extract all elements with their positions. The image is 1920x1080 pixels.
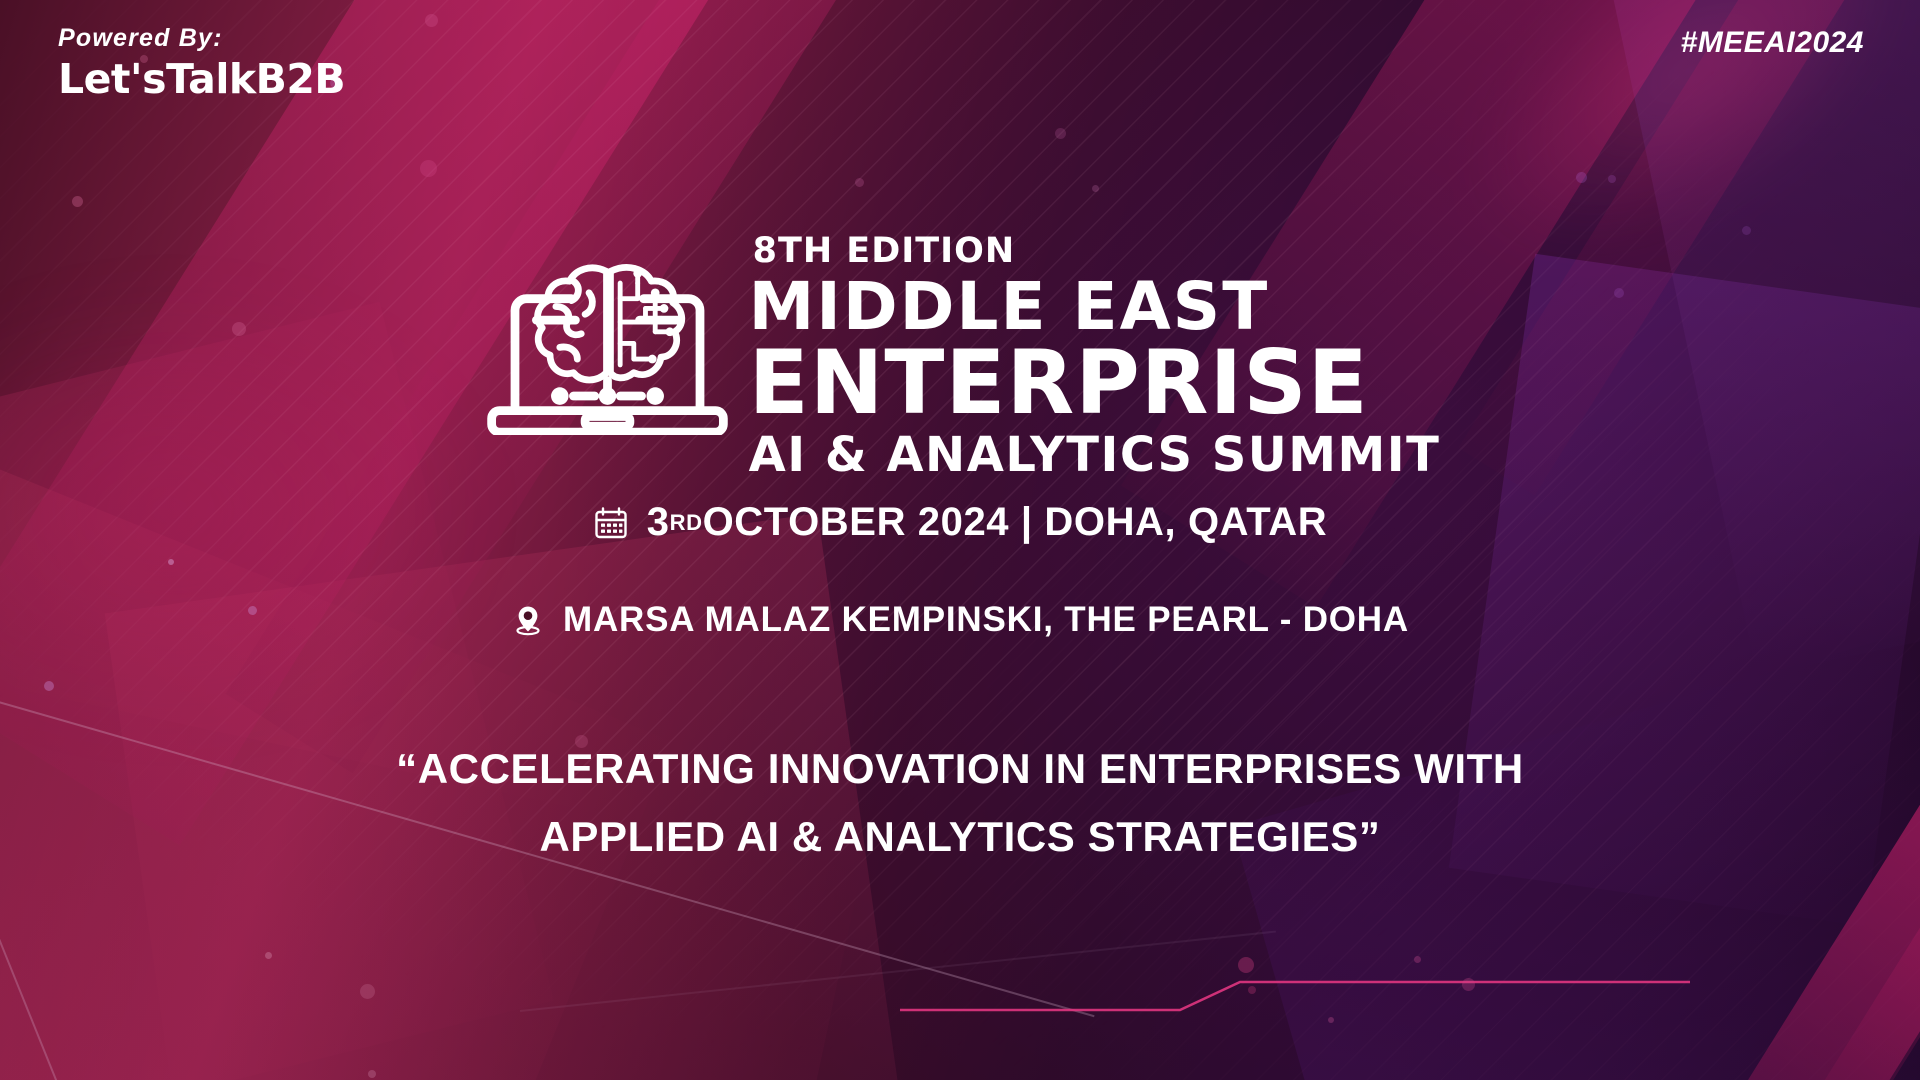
event-tagline: “ACCELERATING INNOVATION IN ENTERPRISES … — [0, 735, 1920, 871]
polygon-facet-left-4 — [0, 665, 862, 1080]
venue-row: MARSA MALAZ KEMPINSKI, THE PEARL - DOHA — [0, 600, 1920, 640]
date-ordinal: RD — [670, 510, 703, 536]
bokeh-dot — [1055, 128, 1066, 139]
bokeh-dot — [420, 160, 437, 177]
bokeh-dot — [1248, 986, 1256, 994]
bokeh-dot — [1238, 957, 1254, 973]
title-text-group: 8TH EDITION MIDDLE EAST ENTERPRISE AI & … — [749, 234, 1441, 480]
tagline-line-2: APPLIED AI & ANALYTICS STRATEGIES” — [0, 803, 1920, 871]
calendar-icon — [593, 505, 629, 541]
bokeh-dot — [265, 952, 272, 959]
venue-text: MARSA MALAZ KEMPINSKI, THE PEARL - DOHA — [563, 600, 1409, 640]
edition-label: 8TH EDITION — [753, 234, 1016, 269]
date-row: 3RD OCTOBER 2024 | DOHA, QATAR — [0, 500, 1920, 545]
bokeh-dot — [425, 14, 438, 27]
bokeh-dot — [1608, 175, 1616, 183]
date-day: 3 — [647, 500, 670, 545]
ai-brain-laptop-icon — [480, 250, 735, 435]
tagline-line-1: “ACCELERATING INNOVATION IN ENTERPRISES … — [0, 735, 1920, 803]
title-block: 8TH EDITION MIDDLE EAST ENTERPRISE AI & … — [0, 234, 1920, 480]
date-rest: OCTOBER 2024 | DOHA, QATAR — [703, 500, 1328, 545]
bokeh-dot — [368, 1070, 376, 1078]
bokeh-dot — [1576, 172, 1587, 183]
bokeh-dot — [44, 681, 54, 691]
title-line-2: ENTERPRISE — [749, 338, 1369, 428]
title-line-1: MIDDLE EAST — [749, 273, 1270, 340]
bokeh-dot — [1462, 978, 1475, 991]
event-banner: Powered By: Let'sTalkB2B #MEEAI2024 — [0, 0, 1920, 1080]
bokeh-dot — [360, 984, 375, 999]
powered-by-label: Powered By: — [58, 24, 345, 53]
hairline-2 — [0, 867, 147, 1080]
bokeh-dot — [72, 196, 83, 207]
powered-by-block: Powered By: Let'sTalkB2B — [58, 24, 345, 103]
lets-talk-b2b-logo: Let'sTalkB2B — [58, 55, 345, 103]
event-hashtag: #MEEAI2024 — [1681, 26, 1864, 60]
bokeh-dot — [855, 178, 864, 187]
hairline-3 — [520, 931, 1276, 1012]
bokeh-dot — [1414, 956, 1421, 963]
stepped-accent-line — [900, 982, 1690, 1010]
title-line-3: AI & ANALYTICS SUMMIT — [749, 430, 1441, 480]
location-pin-icon — [511, 603, 545, 637]
bokeh-dot — [168, 559, 174, 565]
bokeh-dot — [1328, 1017, 1334, 1023]
bokeh-dot — [1092, 185, 1099, 192]
